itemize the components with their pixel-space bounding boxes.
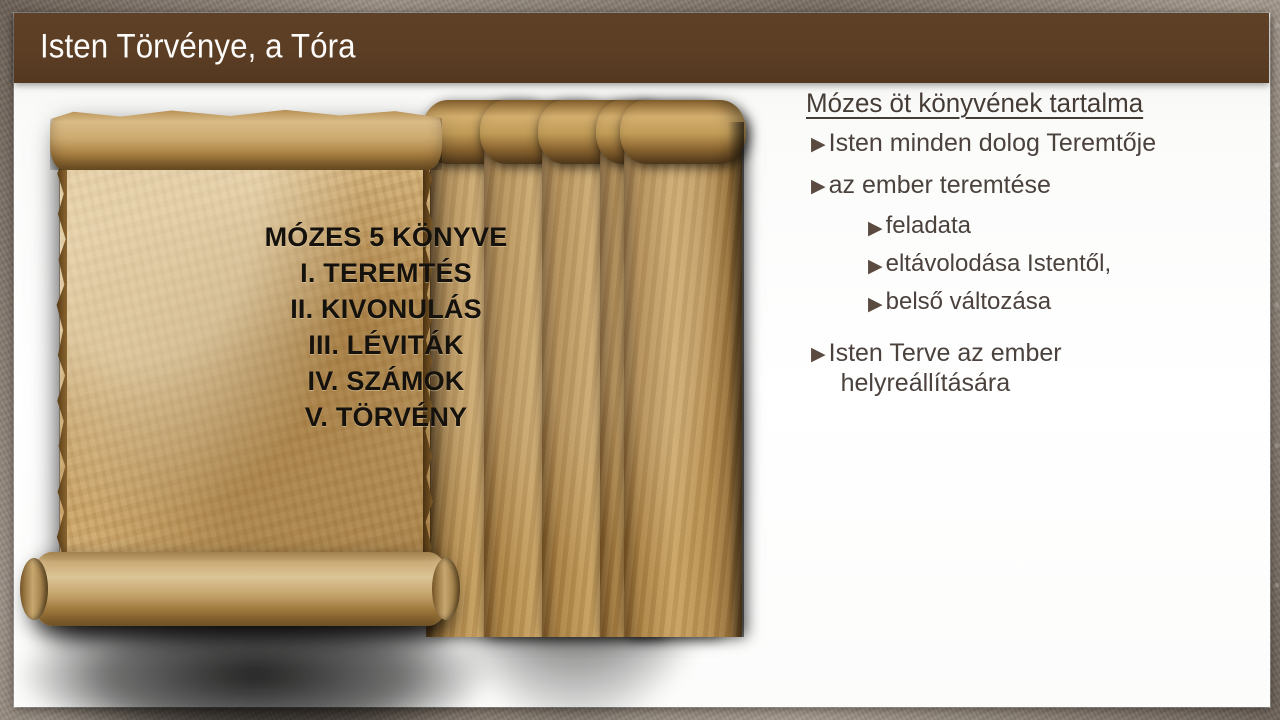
scroll-text-line: MÓZES 5 KÖNYVE <box>26 220 746 256</box>
scroll-top-roll <box>50 108 442 170</box>
content-column: Mózes öt könyvének tartalma ▶ Isten mind… <box>806 88 1256 410</box>
content-heading: Mózes öt könyvének tartalma <box>806 88 1238 119</box>
bullet-label-continuation: helyreállítására <box>841 368 1256 398</box>
triangle-bullet-icon: ▶ <box>868 257 883 276</box>
bullet-item: ▶ Isten Terve az ember helyreállítására <box>811 338 1256 398</box>
bullet-label: az ember teremtése <box>829 170 1256 200</box>
scroll-bottom-roll <box>30 552 450 626</box>
sub-bullet-item: ▶ belső változása <box>868 288 1256 317</box>
triangle-bullet-icon: ▶ <box>811 135 826 154</box>
scroll-illustration: MÓZES 5 KÖNYVE I. TEREMTÉS II. KIVONULÁS… <box>26 100 746 670</box>
sub-bullet-label: eltávolodása Istentől, <box>886 250 1256 279</box>
bullet-item: ▶ az ember teremtése <box>811 170 1256 200</box>
scroll-text-line: IV. SZÁMOK <box>26 364 746 400</box>
bullet-item: ▶ Isten minden dolog Teremtője <box>811 128 1256 158</box>
sub-bullet-label: feladata <box>886 212 1256 241</box>
triangle-bullet-icon: ▶ <box>868 219 883 238</box>
scroll-text-line: III. LÉVITÁK <box>26 328 746 364</box>
triangle-bullet-icon: ▶ <box>811 345 826 364</box>
slide-title: Isten Törvénye, a Tóra <box>40 28 356 67</box>
sub-bullet-item: ▶ feladata <box>868 212 1256 241</box>
triangle-bullet-icon: ▶ <box>868 295 883 314</box>
slide-title-bar: Isten Törvénye, a Tóra <box>14 13 1269 83</box>
sub-bullet-label: belső változása <box>886 288 1256 317</box>
triangle-bullet-icon: ▶ <box>811 177 826 196</box>
scroll-text-line: V. TÖRVÉNY <box>26 400 746 436</box>
bullet-label: Isten minden dolog Teremtője <box>829 128 1256 158</box>
sub-bullet-item: ▶ eltávolodása Istentől, <box>868 250 1256 279</box>
bullet-label: Isten Terve az ember <box>829 339 1062 367</box>
scroll-text-block: MÓZES 5 KÖNYVE I. TEREMTÉS II. KIVONULÁS… <box>26 220 746 435</box>
scroll-text-line: I. TEREMTÉS <box>26 256 746 292</box>
scroll-text-line: II. KIVONULÁS <box>26 292 746 328</box>
